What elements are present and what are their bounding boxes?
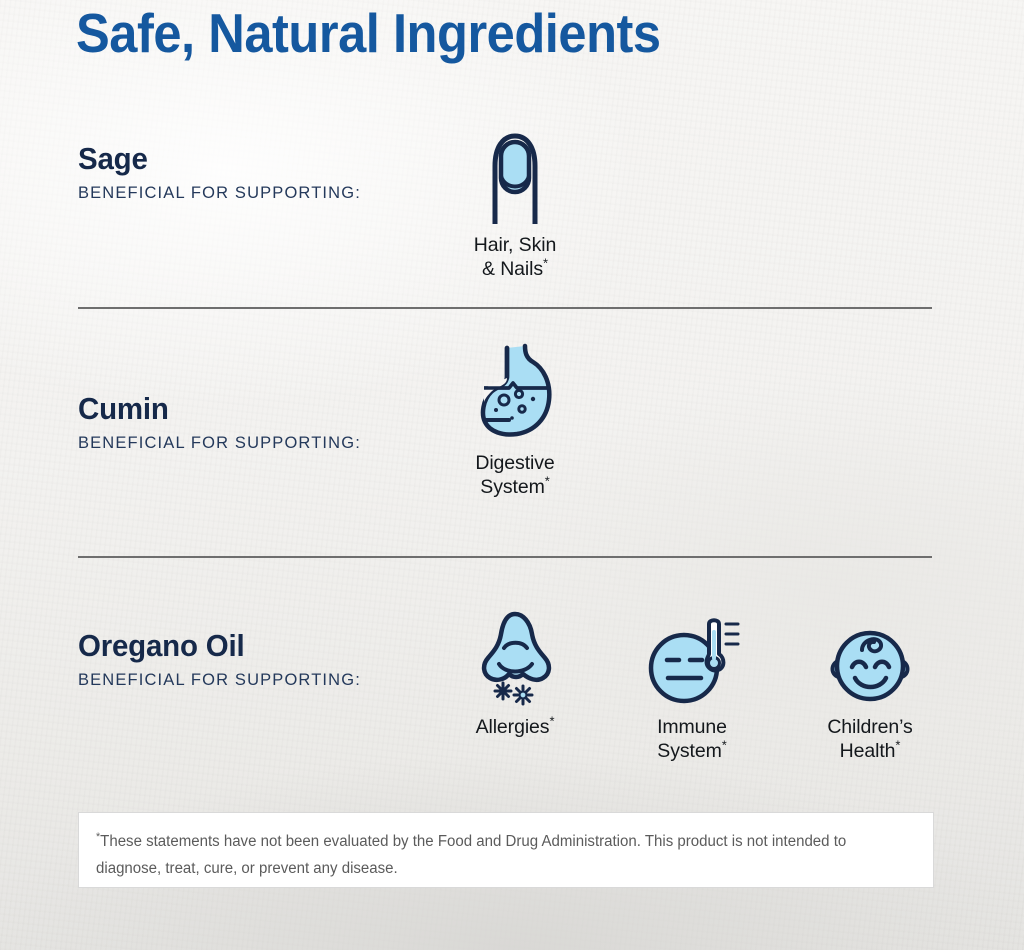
- ingredient-info: Oregano Oil BENEFICIAL FOR SUPPORTING:: [78, 627, 458, 691]
- benefit-label-line1: Children’s: [827, 716, 912, 738]
- ingredient-subhead: BENEFICIAL FOR SUPPORTING:: [78, 669, 458, 691]
- ingredient-subhead: BENEFICIAL FOR SUPPORTING:: [78, 182, 458, 204]
- stomach-icon: [430, 346, 600, 442]
- benefit-hair-skin-nails: Hair, Skin & Nails*: [430, 128, 600, 281]
- benefit-label: Allergies*: [430, 715, 600, 739]
- benefit-label-line1: Digestive: [475, 452, 554, 474]
- finger-nail-icon: [430, 128, 600, 224]
- ingredient-name: Oregano Oil: [78, 627, 439, 665]
- baby-face-icon: [785, 610, 955, 706]
- divider-1: [78, 307, 932, 309]
- benefit-childrens-health: Children’s Health*: [785, 610, 955, 763]
- benefit-digestive-system: Digestive System*: [430, 346, 600, 499]
- divider-2: [78, 556, 932, 558]
- benefit-asterisk: *: [722, 738, 727, 753]
- benefit-label: Immune System*: [607, 715, 777, 763]
- benefit-label-line1: Hair, Skin: [474, 234, 556, 256]
- benefit-allergies: Allergies*: [430, 610, 600, 739]
- footnote-text: *These statements have not been evaluate…: [96, 828, 893, 882]
- ingredients-infographic: Safe, Natural Ingredients Sage BENEFICIA…: [0, 0, 1024, 950]
- ingredient-info: Cumin BENEFICIAL FOR SUPPORTING:: [78, 390, 458, 454]
- benefit-label-line1: Allergies: [476, 716, 550, 738]
- benefit-label: Digestive System*: [430, 451, 600, 499]
- ingredient-name: Sage: [78, 140, 439, 178]
- benefit-immune-system: Immune System*: [607, 610, 777, 763]
- benefit-label-line2: Health: [840, 740, 896, 762]
- nose-allergy-icon: [430, 610, 600, 706]
- benefit-label-line2: System: [657, 740, 721, 762]
- benefit-asterisk: *: [545, 474, 550, 489]
- ingredient-info: Sage BENEFICIAL FOR SUPPORTING:: [78, 140, 458, 204]
- page-title: Safe, Natural Ingredients: [76, 2, 661, 64]
- benefit-label-line2: System: [480, 476, 544, 498]
- benefit-asterisk: *: [895, 738, 900, 753]
- footnote-box: *These statements have not been evaluate…: [78, 812, 934, 888]
- benefit-label-line2: & Nails: [482, 258, 543, 280]
- sick-face-thermometer-icon: [607, 610, 777, 706]
- benefit-asterisk: *: [543, 256, 548, 271]
- benefit-label: Children’s Health*: [785, 715, 955, 763]
- benefit-label-line1: Immune: [657, 716, 727, 738]
- ingredient-name: Cumin: [78, 390, 439, 428]
- benefit-label: Hair, Skin & Nails*: [430, 233, 600, 281]
- ingredient-subhead: BENEFICIAL FOR SUPPORTING:: [78, 432, 458, 454]
- benefit-asterisk: *: [549, 714, 554, 729]
- footnote-body: These statements have not been evaluated…: [96, 833, 846, 877]
